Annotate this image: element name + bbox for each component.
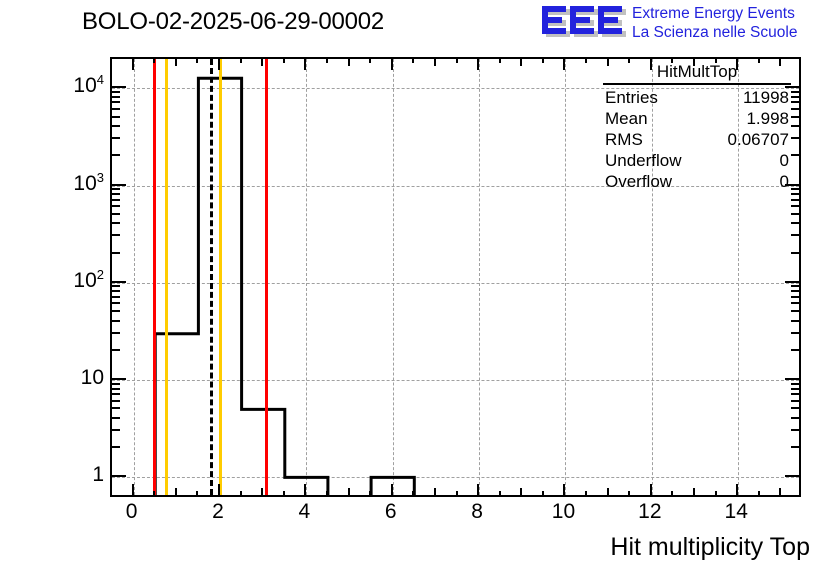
x-tick-12.5 bbox=[671, 491, 673, 497]
x-tick-label-2: 4 bbox=[299, 500, 311, 524]
y-tick-right-70 bbox=[791, 296, 799, 298]
x-tick-14.5 bbox=[758, 491, 760, 497]
marker-line-orange-low bbox=[165, 59, 168, 495]
x-tick-top-6.5 bbox=[412, 57, 414, 63]
x-tick-top-7.5 bbox=[456, 57, 458, 63]
marker-line-red-high bbox=[265, 59, 268, 495]
y-tick-right-9 bbox=[791, 383, 799, 385]
y-tick-7000 bbox=[112, 101, 120, 103]
y-tick-90 bbox=[112, 285, 120, 287]
x-tick-top-4.5 bbox=[326, 57, 328, 63]
x-tick-4 bbox=[304, 484, 306, 497]
y-tick-5 bbox=[112, 407, 120, 409]
stats-key: Overflow bbox=[605, 171, 672, 192]
stats-value: 0 bbox=[780, 171, 789, 192]
y-tick-80 bbox=[112, 290, 120, 292]
stats-key: RMS bbox=[605, 129, 643, 150]
y-tick-10000 bbox=[112, 86, 126, 88]
x-tick-top-0.5 bbox=[153, 57, 155, 63]
x-tick-13 bbox=[693, 488, 695, 497]
y-tick-right-20 bbox=[791, 349, 799, 351]
x-tick-9 bbox=[520, 488, 522, 497]
page-title: BOLO-02-2025-06-29-00002 bbox=[82, 8, 384, 36]
x-tick-5 bbox=[348, 488, 350, 497]
x-tick-top-2.5 bbox=[240, 57, 242, 63]
y-tick-7 bbox=[112, 393, 120, 395]
stats-box: HitMultTop Entries11998Mean1.998RMS0.067… bbox=[601, 62, 793, 192]
y-tick-right-30 bbox=[791, 332, 799, 334]
y-tick-6 bbox=[112, 400, 120, 402]
y-tick-6000 bbox=[112, 108, 120, 110]
y-tick-8000 bbox=[112, 96, 120, 98]
y-tick-400 bbox=[112, 222, 120, 224]
x-tick-top-4 bbox=[304, 57, 306, 70]
y-tick-right-300 bbox=[791, 234, 799, 236]
y-tick-900 bbox=[112, 188, 120, 190]
y-tick-9000 bbox=[112, 91, 120, 93]
stats-row: Underflow0 bbox=[601, 150, 793, 171]
x-tick-4.5 bbox=[326, 491, 328, 497]
x-tick-top-9.5 bbox=[542, 57, 544, 63]
y-tick-right-1 bbox=[785, 475, 799, 477]
y-tick-label-4: 104 bbox=[73, 74, 104, 98]
y-tick-9 bbox=[112, 383, 120, 385]
x-tick-11.5 bbox=[628, 491, 630, 497]
y-tick-2 bbox=[112, 446, 120, 448]
y-tick-right-80 bbox=[791, 290, 799, 292]
y-tick-right-60 bbox=[791, 302, 799, 304]
y-tick-label-3: 103 bbox=[73, 172, 104, 196]
x-tick-7.5 bbox=[456, 491, 458, 497]
stats-value: 11998 bbox=[743, 87, 789, 108]
stats-value: 1.998 bbox=[746, 108, 789, 129]
y-tick-4000 bbox=[112, 125, 120, 127]
stats-value: 0.06707 bbox=[728, 129, 789, 150]
eee-logo-mark-icon bbox=[540, 5, 626, 41]
x-tick-7 bbox=[434, 488, 436, 497]
y-tick-right-800 bbox=[791, 193, 799, 195]
y-tick-right-500 bbox=[791, 213, 799, 215]
x-tick-top-1 bbox=[175, 57, 177, 66]
y-tick-right-4 bbox=[791, 417, 799, 419]
x-tick-top-3 bbox=[261, 57, 263, 66]
stats-row: Mean1.998 bbox=[601, 108, 793, 129]
logo-line-1: Extreme Energy Events bbox=[632, 4, 832, 23]
x-tick-top-6 bbox=[391, 57, 393, 70]
y-tick-4 bbox=[112, 417, 120, 419]
stats-key: Mean bbox=[605, 108, 648, 129]
stats-rows: Entries11998Mean1.998RMS0.06707Underflow… bbox=[601, 87, 793, 192]
x-tick-10.5 bbox=[585, 491, 587, 497]
x-tick-top-5.5 bbox=[369, 57, 371, 63]
x-tick-6 bbox=[391, 484, 393, 497]
x-tick-1.5 bbox=[196, 491, 198, 497]
x-axis-title: Hit multiplicity Top bbox=[610, 533, 810, 562]
y-tick-right-7 bbox=[791, 393, 799, 395]
stats-title: HitMultTop bbox=[601, 62, 793, 83]
y-tick-right-50 bbox=[791, 310, 799, 312]
x-tick-top-2 bbox=[218, 57, 220, 70]
x-tick-label-5: 10 bbox=[552, 500, 575, 524]
y-tick-70 bbox=[112, 296, 120, 298]
y-tick-right-3 bbox=[791, 429, 799, 431]
y-tick-right-100 bbox=[785, 281, 799, 283]
x-tick-10 bbox=[563, 484, 565, 497]
x-tick-0 bbox=[132, 484, 134, 497]
x-tick-3 bbox=[261, 488, 263, 497]
logo-line-2: La Scienza nelle Scuole bbox=[632, 23, 832, 42]
y-tick-label-2: 102 bbox=[73, 269, 104, 293]
stats-value: 0 bbox=[780, 150, 789, 171]
x-tick-6.5 bbox=[412, 491, 414, 497]
y-tick-8 bbox=[112, 388, 120, 390]
y-tick-500 bbox=[112, 213, 120, 215]
y-tick-200 bbox=[112, 252, 120, 254]
x-tick-top-3.5 bbox=[283, 57, 285, 63]
x-tick-9.5 bbox=[542, 491, 544, 497]
y-tick-60 bbox=[112, 302, 120, 304]
y-tick-100 bbox=[112, 281, 126, 283]
x-tick-0.5 bbox=[153, 491, 155, 497]
y-tick-label-0: 1 bbox=[92, 463, 104, 487]
y-tick-label-1: 10 bbox=[81, 366, 104, 390]
y-tick-right-10 bbox=[785, 378, 799, 380]
y-tick-40 bbox=[112, 320, 120, 322]
y-tick-2000 bbox=[112, 154, 120, 156]
x-tick-label-3: 6 bbox=[385, 500, 397, 524]
y-tick-right-90 bbox=[791, 285, 799, 287]
chart-canvas: BOLO-02-2025-06-29-00002 bbox=[0, 0, 836, 572]
x-tick-2 bbox=[218, 484, 220, 497]
y-tick-1000 bbox=[112, 184, 126, 186]
y-tick-700 bbox=[112, 199, 120, 201]
stats-row: Entries11998 bbox=[601, 87, 793, 108]
x-tick-8.5 bbox=[499, 491, 501, 497]
y-tick-20 bbox=[112, 349, 120, 351]
x-tick-13.5 bbox=[715, 491, 717, 497]
x-tick-label-1: 2 bbox=[212, 500, 224, 524]
x-tick-top-1.5 bbox=[196, 57, 198, 63]
y-tick-600 bbox=[112, 205, 120, 207]
x-tick-label-7: 14 bbox=[725, 500, 748, 524]
y-tick-1 bbox=[112, 475, 126, 477]
x-tick-top-7 bbox=[434, 57, 436, 66]
y-tick-30 bbox=[112, 332, 120, 334]
y-tick-right-40 bbox=[791, 320, 799, 322]
marker-line-mean-dashed bbox=[210, 59, 213, 495]
y-tick-right-6 bbox=[791, 400, 799, 402]
x-tick-14 bbox=[736, 484, 738, 497]
y-tick-300 bbox=[112, 234, 120, 236]
stats-key: Underflow bbox=[605, 150, 682, 171]
x-tick-label-6: 12 bbox=[638, 500, 661, 524]
stats-row: RMS0.06707 bbox=[601, 129, 793, 150]
x-tick-label-4: 8 bbox=[471, 500, 483, 524]
x-tick-8 bbox=[477, 484, 479, 497]
eee-logo-text: Extreme Energy Events La Scienza nelle S… bbox=[632, 4, 832, 42]
x-tick-5.5 bbox=[369, 491, 371, 497]
y-tick-right-2 bbox=[791, 446, 799, 448]
y-tick-right-20000 bbox=[791, 57, 799, 59]
x-tick-top-10.5 bbox=[585, 57, 587, 63]
x-tick-top-8 bbox=[477, 57, 479, 70]
y-tick-3 bbox=[112, 429, 120, 431]
x-tick-top-0 bbox=[132, 57, 134, 70]
y-tick-50 bbox=[112, 310, 120, 312]
y-tick-right-8 bbox=[791, 388, 799, 390]
x-tick-1 bbox=[175, 488, 177, 497]
y-axis-labels: 110102103104 bbox=[0, 0, 104, 572]
x-tick-top-9 bbox=[520, 57, 522, 66]
y-tick-10 bbox=[112, 378, 126, 380]
x-tick-11 bbox=[607, 488, 609, 497]
y-tick-right-600 bbox=[791, 205, 799, 207]
x-tick-top-5 bbox=[348, 57, 350, 66]
x-tick-12 bbox=[650, 484, 652, 497]
y-tick-right-5 bbox=[791, 407, 799, 409]
x-tick-top-10 bbox=[563, 57, 565, 70]
marker-line-orange-high bbox=[219, 59, 222, 495]
y-tick-right-400 bbox=[791, 222, 799, 224]
y-tick-800 bbox=[112, 193, 120, 195]
eee-logo: Extreme Energy Events La Scienza nelle S… bbox=[540, 2, 834, 46]
x-tick-15 bbox=[779, 488, 781, 497]
x-tick-3.5 bbox=[283, 491, 285, 497]
y-tick-right-700 bbox=[791, 199, 799, 201]
y-tick-right-200 bbox=[791, 252, 799, 254]
stats-row: Overflow0 bbox=[601, 171, 793, 192]
y-tick-5000 bbox=[112, 116, 120, 118]
x-tick-label-0: 0 bbox=[126, 500, 138, 524]
x-tick-2.5 bbox=[240, 491, 242, 497]
marker-line-red-low bbox=[153, 59, 156, 495]
x-tick-top-8.5 bbox=[499, 57, 501, 63]
stats-key: Entries bbox=[605, 87, 658, 108]
stats-divider bbox=[603, 83, 791, 85]
y-tick-20000 bbox=[112, 57, 120, 59]
y-tick-3000 bbox=[112, 137, 120, 139]
